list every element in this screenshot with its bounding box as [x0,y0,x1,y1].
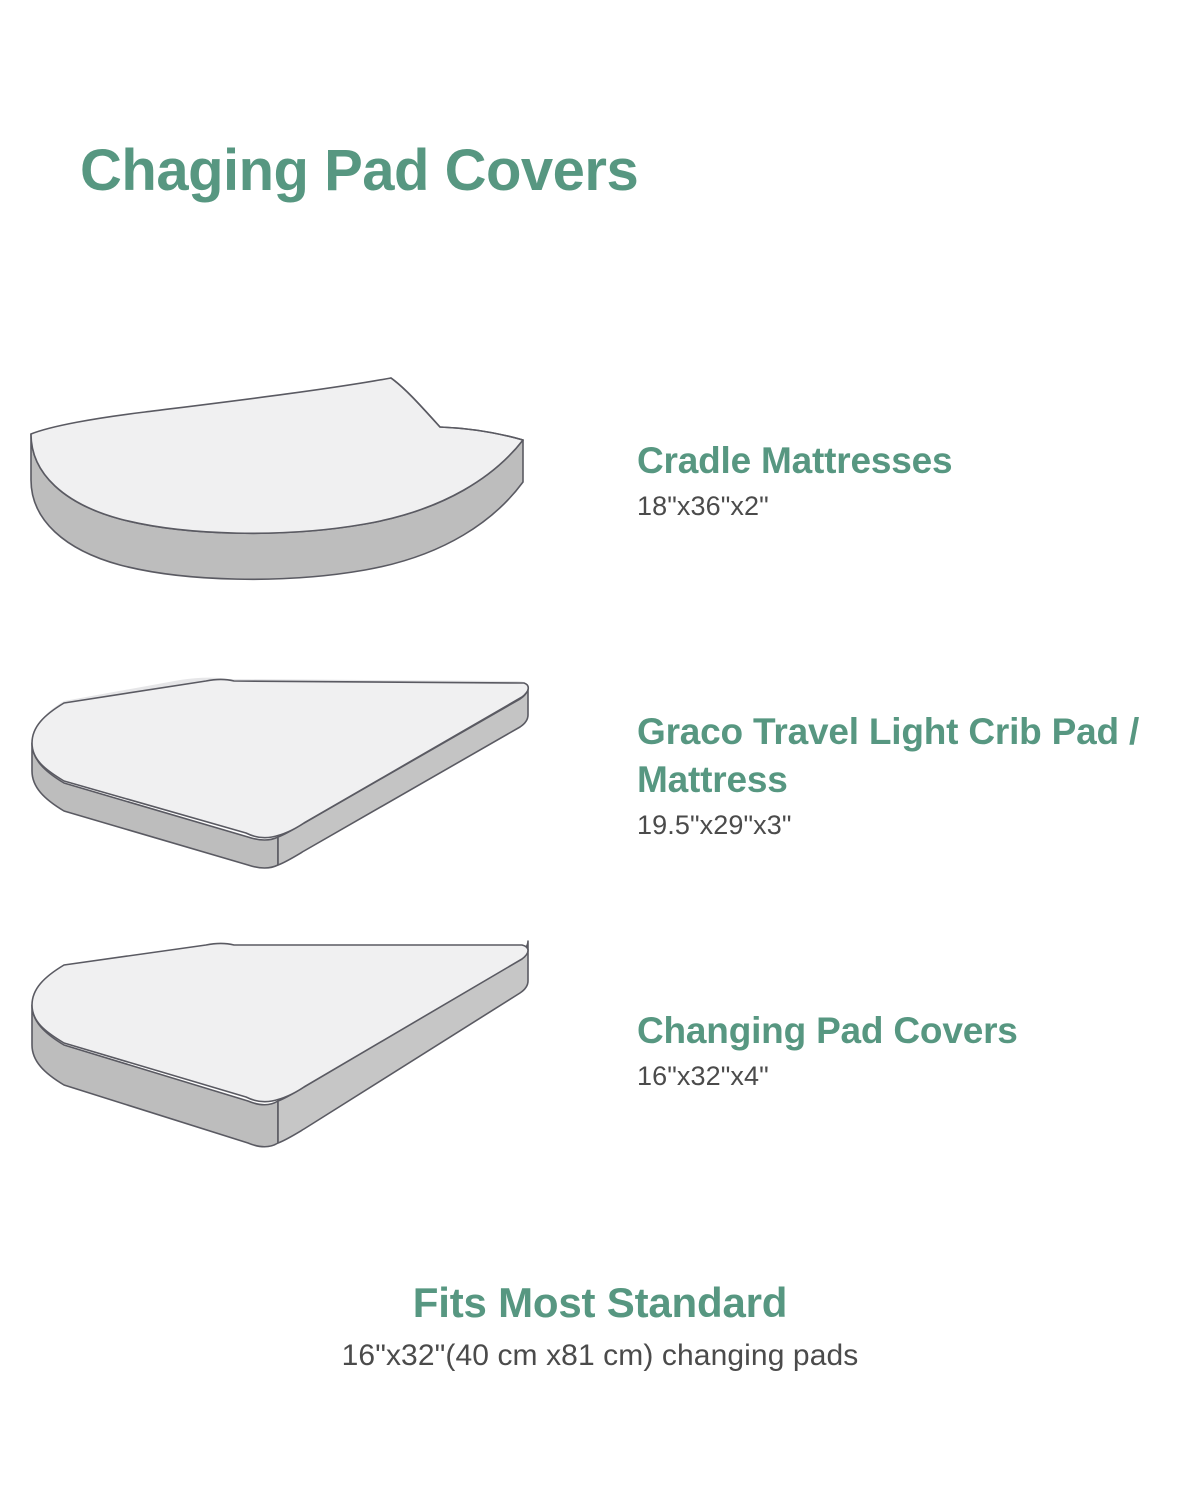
product-dimensions: 18"x36"x2" [637,490,1170,522]
illustration-thick-changing-pad [0,935,560,1165]
product-row-2: Graco Travel Light Crib Pad / Mattress 1… [0,660,1200,890]
thick-changing-pad-icon [20,943,540,1158]
product-row-1: Cradle Mattresses 18"x36"x2" [0,360,1200,600]
caption-block-3: Changing Pad Covers 16"x32"x4" [560,1007,1200,1093]
product-row-3: Changing Pad Covers 16"x32"x4" [0,935,1200,1165]
infographic-page: Chaging Pad Covers Cradle Mattresses 18"… [0,0,1200,1500]
footer-block: Fits Most Standard 16"x32"(40 cm x81 cm)… [0,1278,1200,1374]
footer-title: Fits Most Standard [0,1278,1200,1328]
contoured-changing-pad-icon [25,370,535,590]
product-dimensions: 19.5"x29"x3" [637,809,1170,841]
illustration-flat-crib-mattress [0,660,560,890]
caption-block-2: Graco Travel Light Crib Pad / Mattress 1… [560,708,1200,841]
flat-crib-mattress-icon [20,675,540,875]
product-title: Changing Pad Covers [637,1007,1170,1054]
page-title: Chaging Pad Covers [80,139,638,203]
illustration-contoured-changing-pad [0,360,560,600]
caption-block-1: Cradle Mattresses 18"x36"x2" [560,437,1200,523]
product-title: Graco Travel Light Crib Pad / Mattress [637,708,1170,803]
footer-subtitle: 16"x32"(40 cm x81 cm) changing pads [0,1338,1200,1374]
product-dimensions: 16"x32"x4" [637,1060,1170,1092]
product-title: Cradle Mattresses [637,437,1170,484]
